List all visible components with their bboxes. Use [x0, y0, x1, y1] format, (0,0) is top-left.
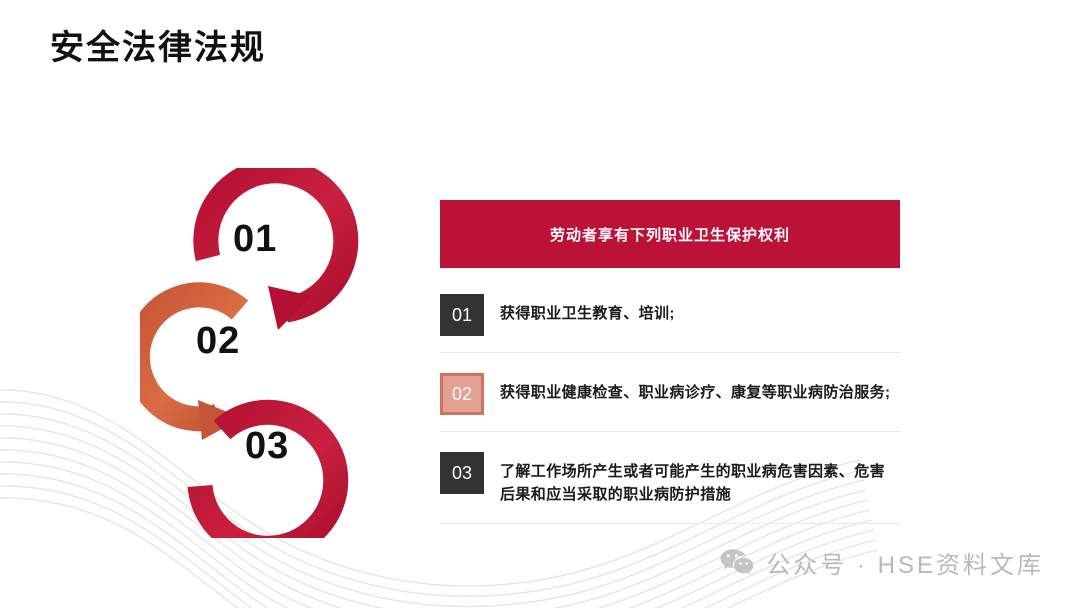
- list-item: 03 了解工作场所产生或者可能产生的职业病危害因素、危害后果和应当采取的职业病防…: [440, 452, 900, 524]
- panel-banner-title: 劳动者享有下列职业卫生保护权利: [550, 224, 790, 245]
- panel-banner: 劳动者享有下列职业卫生保护权利: [440, 200, 900, 268]
- cycle-label-03: 03: [245, 425, 289, 468]
- slide-canvas: 安全法律法规: [0, 0, 1080, 608]
- item-text: 获得职业健康检查、职业病诊疗、康复等职业病防治服务;: [500, 373, 890, 404]
- item-text: 获得职业卫生教育、培训;: [500, 294, 675, 325]
- item-text: 了解工作场所产生或者可能产生的职业病危害因素、危害后果和应当采取的职业病防护措施: [500, 452, 900, 507]
- item-number-badge: 01: [440, 294, 484, 336]
- watermark-text: 公众号 · HSE资料文库: [766, 545, 1044, 580]
- wechat-icon: [720, 548, 754, 578]
- watermark: 公众号 · HSE资料文库: [720, 545, 1044, 580]
- rights-list: 01 获得职业卫生教育、培训; 02 获得职业健康检查、职业病诊疗、康复等职业病…: [440, 294, 900, 524]
- item-number-badge: 02: [440, 373, 484, 415]
- list-item: 01 获得职业卫生教育、培训;: [440, 294, 900, 353]
- page-title: 安全法律法规: [50, 28, 266, 69]
- cycle-label-02: 02: [196, 320, 240, 363]
- rights-panel: 劳动者享有下列职业卫生保护权利 01 获得职业卫生教育、培训; 02 获得职业健…: [440, 200, 900, 524]
- list-item: 02 获得职业健康检查、职业病诊疗、康复等职业病防治服务;: [440, 373, 900, 432]
- item-number-badge: 03: [440, 452, 484, 494]
- cycle-label-01: 01: [233, 218, 277, 261]
